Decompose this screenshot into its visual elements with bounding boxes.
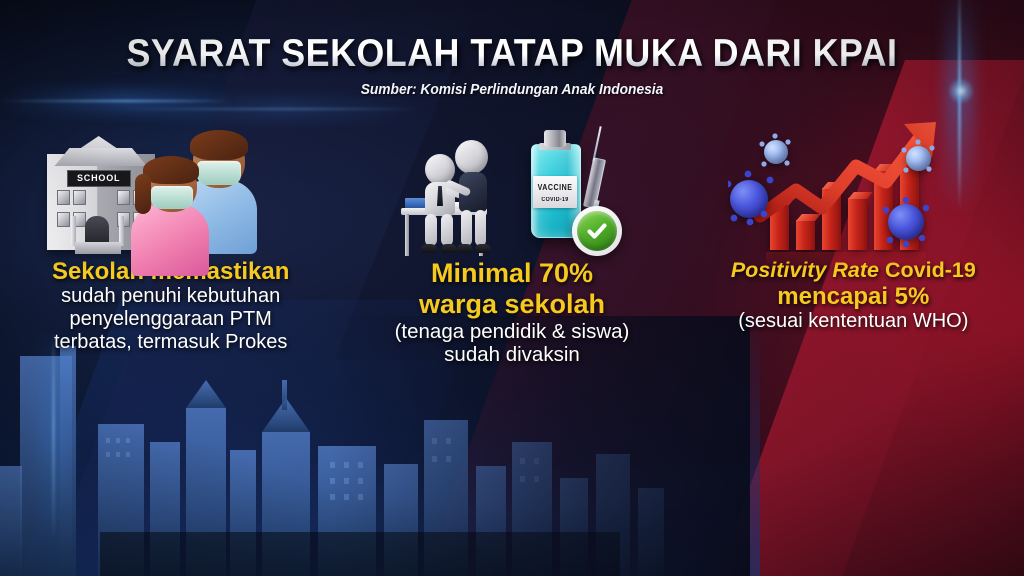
school-steps [75,242,121,254]
caption-line: sudah divaksin [395,343,630,366]
figure-shoe [457,244,473,253]
page-title: SYARAT SEKOLAH TATAP MUKA DARI KPAI [41,34,983,73]
caption-positivity: Positivity Rate Covid-19 mencapai 5% (se… [725,258,982,333]
chart-reflection [766,252,926,268]
column-positivity: Positivity Rate Covid-19 mencapai 5% (se… [683,126,1024,426]
columns-container: SCHOOL [0,126,1024,426]
caption-vaccination: Minimal 70% warga sekolah (tenaga pendid… [389,258,636,366]
student-shirt-pink [131,204,209,276]
page-subtitle: Sumber: Komisi Perlindungan Anak Indones… [26,82,999,98]
green-check-badge [572,206,622,256]
caption-line: (sesuai kententuan WHO) [731,310,976,333]
rising-bar-chart-virus-icon [683,126,1024,258]
vaccine-vial-label: VACCINE COVID-19 [533,176,577,208]
figure-leg [441,214,453,246]
school-roof-secondary [55,148,147,166]
desk-leg [405,214,409,256]
light-streak-center-left [120,108,420,110]
caption-line: (tenaga pendidik & siswa) [395,320,630,343]
column-vaccination: VACCINE COVID-19 Minimal 70% w [341,126,682,426]
check-circle [577,211,617,251]
virus-particle [906,146,931,171]
infographic-poster: SYARAT SEKOLAH TATAP MUKA DARI KPAI Sumb… [0,0,1024,576]
school-window [117,190,130,205]
face-mask-icon [197,161,241,185]
figure-shoe [421,244,437,253]
student-ponytail [135,174,151,214]
school-window [57,212,70,227]
vaccine-vial-cap [544,130,566,147]
trend-arrow-icon [752,120,962,246]
student-hair [143,156,199,184]
school-sign-label: SCHOOL [67,170,131,187]
face-mask-icon [151,186,193,209]
virus-particle [764,140,788,164]
caption-line: terbatas, termasuk Prokes [52,331,289,354]
column-school: SCHOOL [0,126,341,426]
school-window [73,190,86,205]
virus-particle [730,180,768,218]
figure-leg [425,214,437,246]
caption-lead-line1: Minimal 70% [395,258,630,289]
caption-line: sudah penuhi kebutuhan [52,285,289,308]
figure-shoe [475,244,491,253]
school-students-masks-icon: SCHOOL [0,126,341,258]
figure-leg [475,210,486,246]
vial-label-line2: COVID-19 [536,197,575,203]
figure-head [455,140,488,174]
caption-lead-line2: warga sekolah [395,289,630,320]
student-desk-vaccine-vial-icon: VACCINE COVID-19 [341,126,682,258]
caption-line: penyelenggaraan PTM [52,308,289,331]
figure-shoe [441,244,457,253]
vial-label-line1: VACCINE [536,183,575,192]
school-window [57,190,70,205]
caption-big: mencapai 5% [731,283,976,310]
header: SYARAT SEKOLAH TATAP MUKA DARI KPAI Sumb… [0,34,1024,98]
student-hair [190,130,248,160]
figure-leg [461,210,472,246]
checkmark-icon [585,219,609,243]
virus-particle [888,204,924,240]
